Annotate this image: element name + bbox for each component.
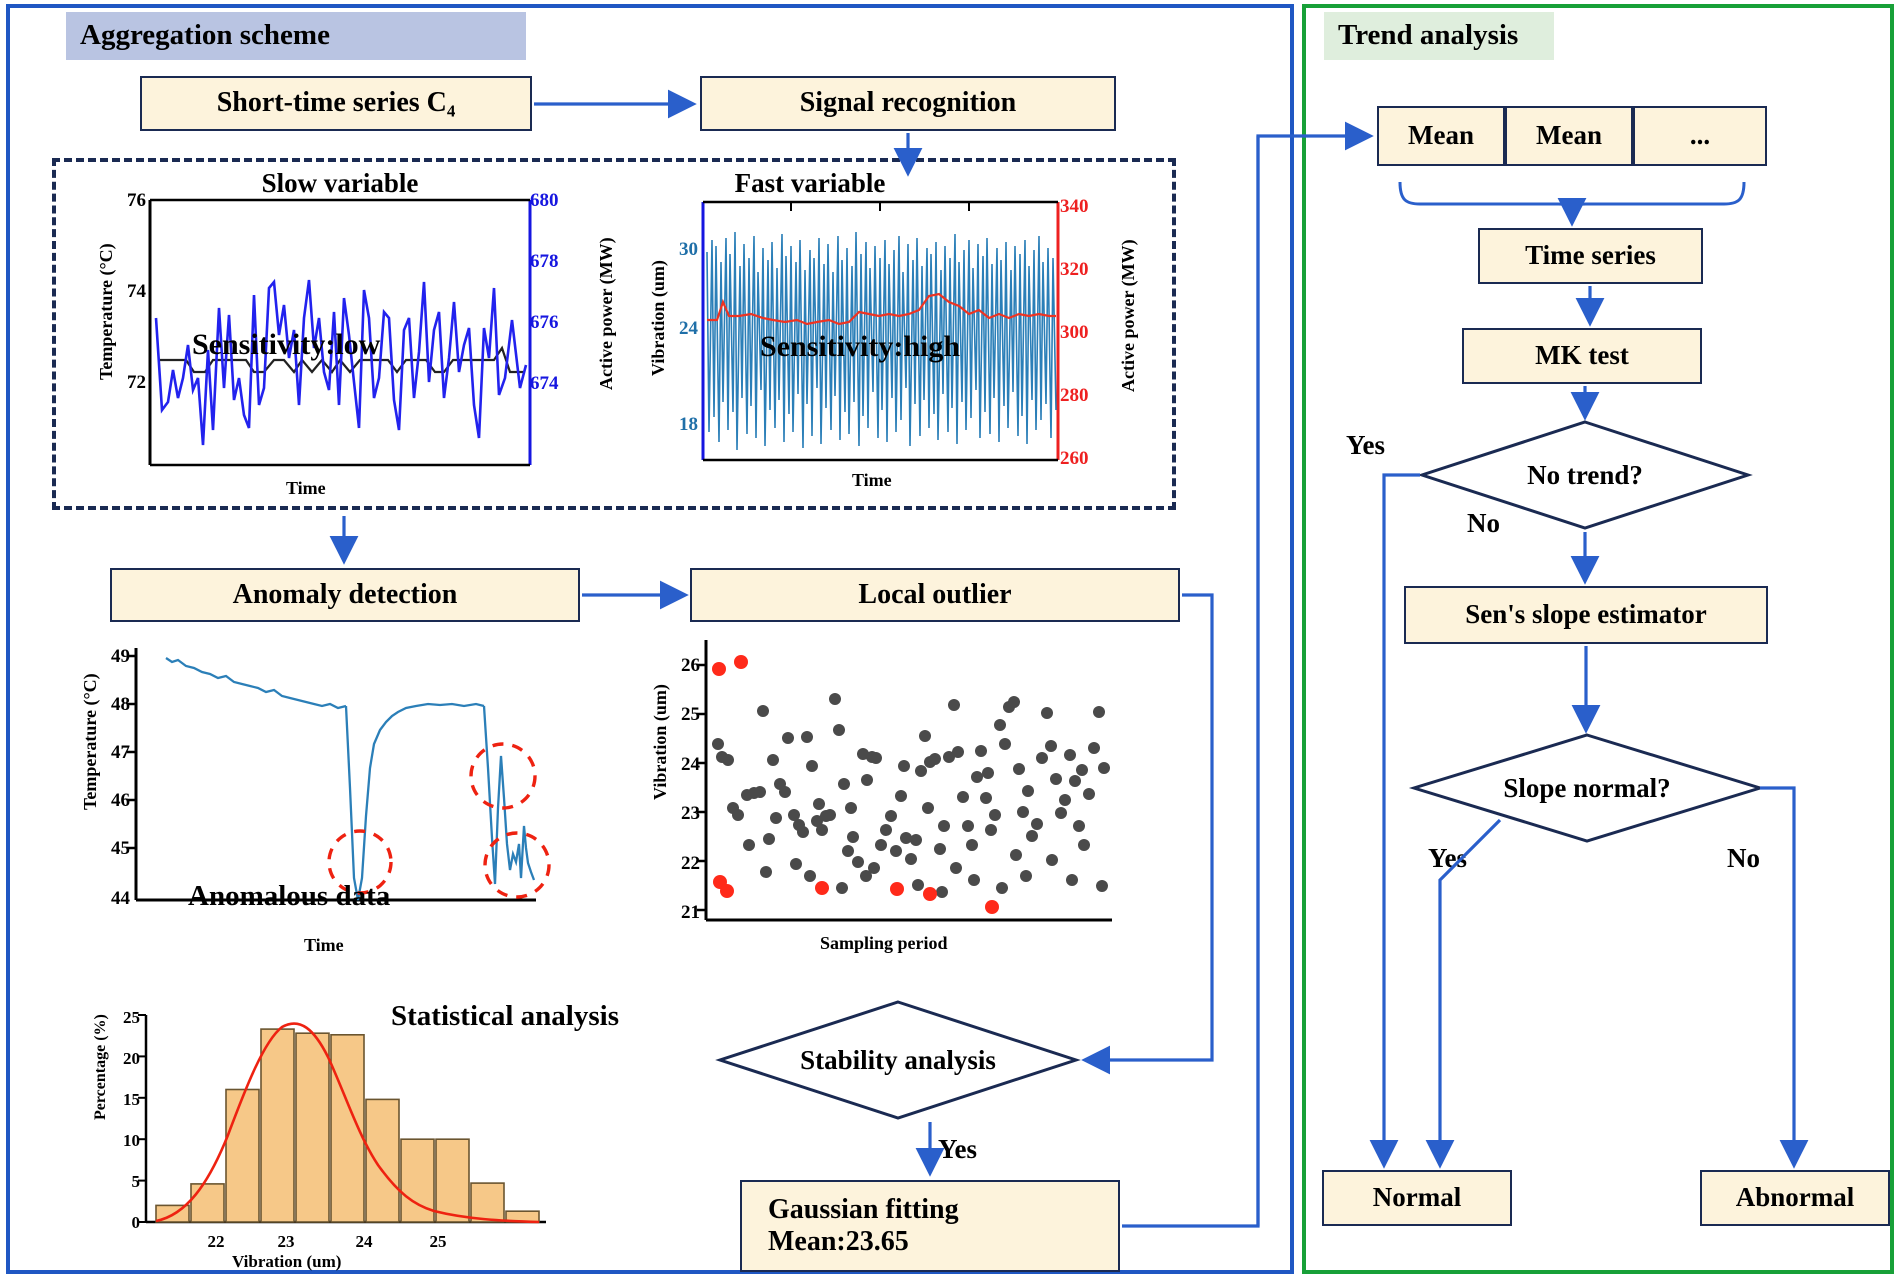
box-abnormal[interactable]: Abnormal xyxy=(1700,1170,1890,1226)
label-stability-yes: Yes xyxy=(938,1134,977,1165)
label-slope-no: No xyxy=(1727,843,1760,874)
mean-cell-2[interactable]: Mean xyxy=(1505,106,1633,166)
label-no-trend-no: No xyxy=(1467,508,1500,539)
gaussian-fitting-line2: Mean:23.65 xyxy=(768,1226,909,1258)
xtick-hist-22: 22 xyxy=(196,1232,236,1252)
xtick-hist-23: 23 xyxy=(266,1232,306,1252)
chart-title-slow-variable: Slow variable xyxy=(180,168,500,199)
ytick-hist-0: 0 xyxy=(100,1213,140,1233)
mean-cell-1[interactable]: Mean xyxy=(1377,106,1505,166)
ytick-hist-20: 20 xyxy=(100,1049,140,1069)
ytick-slow-76: 76 xyxy=(100,190,146,212)
ytick-fast-right-340: 340 xyxy=(1060,196,1116,218)
xtick-hist-24: 24 xyxy=(344,1232,384,1252)
diamond-stability-label: Stability analysis xyxy=(800,1045,996,1076)
axis-label-time-slow: Time xyxy=(286,478,326,499)
ytick-outlier-22: 22 xyxy=(654,853,700,875)
label-slope-yes: Yes xyxy=(1428,843,1467,874)
chart-local-outlier xyxy=(706,640,1112,930)
trend-analysis-title: Trend analysis xyxy=(1324,12,1554,60)
box-signal-recognition[interactable]: Signal recognition xyxy=(700,76,1116,131)
box-short-time-series[interactable]: Short-time series C₄ xyxy=(140,76,532,131)
axis-label-time-anomaly: Time xyxy=(304,935,344,956)
axis-label-vibration-outlier: Vibration (um) xyxy=(650,684,671,800)
ytick-anomaly-45: 45 xyxy=(84,838,130,860)
box-anomaly-detection[interactable]: Anomaly detection xyxy=(110,568,580,622)
chart-statistical-analysis xyxy=(146,1015,546,1230)
diamond-slope-normal[interactable]: Slope normal? xyxy=(1412,733,1762,843)
axis-label-vibration-hist: Vibration (um) xyxy=(232,1252,341,1272)
box-normal[interactable]: Normal xyxy=(1322,1170,1512,1226)
chart-title-fast-variable: Fast variable xyxy=(640,168,980,199)
ytick-fast-30: 30 xyxy=(652,239,698,261)
axis-label-time-fast: Time xyxy=(852,470,892,491)
ytick-anomaly-46: 46 xyxy=(84,790,130,812)
chart-anomaly-detection xyxy=(136,648,536,906)
mean-cell-ellipsis[interactable]: ... xyxy=(1633,106,1767,166)
label-no-trend-yes: Yes xyxy=(1346,430,1385,461)
box-gaussian-fitting[interactable]: Gaussian fitting Mean:23.65 xyxy=(740,1180,1120,1272)
axis-label-sampling-period: Sampling period xyxy=(820,933,948,954)
ytick-anomaly-49: 49 xyxy=(84,646,130,668)
diamond-no-trend-label: No trend? xyxy=(1527,460,1643,491)
gaussian-fitting-line1: Gaussian fitting xyxy=(768,1194,959,1226)
ytick-outlier-21: 21 xyxy=(654,902,700,924)
annotation-sensitivity-low: Sensitivity:low xyxy=(192,328,380,362)
ytick-hist-15: 15 xyxy=(100,1090,140,1110)
axis-label-active-power-slow: Active power (MW) xyxy=(596,237,617,390)
ytick-anomaly-48: 48 xyxy=(84,694,130,716)
annotation-anomalous-data: Anomalous data xyxy=(188,880,390,913)
annotation-sensitivity-high: Sensitivity:high xyxy=(760,330,960,364)
ytick-slow-right-674: 674 xyxy=(530,373,582,395)
ytick-hist-5: 5 xyxy=(100,1172,140,1192)
ytick-fast-right-280: 280 xyxy=(1060,385,1116,407)
ytick-hist-25: 25 xyxy=(100,1008,140,1028)
ytick-anomaly-44: 44 xyxy=(84,888,130,910)
ytick-anomaly-47: 47 xyxy=(84,742,130,764)
ytick-slow-right-678: 678 xyxy=(530,251,582,273)
ytick-hist-10: 10 xyxy=(100,1131,140,1151)
box-time-series[interactable]: Time series xyxy=(1478,228,1703,284)
axis-label-temperature-slow: Temperature (°C) xyxy=(96,243,117,380)
ytick-fast-right-300: 300 xyxy=(1060,322,1116,344)
axis-label-active-power-fast: Active power (MW) xyxy=(1118,239,1139,392)
ytick-outlier-23: 23 xyxy=(654,803,700,825)
ytick-slow-72: 72 xyxy=(100,372,146,394)
anomaly-temperature-line xyxy=(166,658,534,900)
ytick-fast-18: 18 xyxy=(652,414,698,436)
ytick-slow-right-676: 676 xyxy=(530,312,582,334)
ytick-outlier-26: 26 xyxy=(654,655,700,677)
box-local-outlier[interactable]: Local outlier xyxy=(690,568,1180,622)
ytick-slow-74: 74 xyxy=(100,281,146,303)
ytick-fast-24: 24 xyxy=(652,318,698,340)
histogram-bars xyxy=(156,1029,539,1222)
ytick-slow-right-680: 680 xyxy=(530,190,582,212)
ytick-outlier-24: 24 xyxy=(654,754,700,776)
diamond-slope-normal-label: Slope normal? xyxy=(1503,773,1670,804)
outlier-anomalous-points xyxy=(712,655,999,914)
box-sens-slope-estimator[interactable]: Sen's slope estimator xyxy=(1404,586,1768,644)
ytick-outlier-25: 25 xyxy=(654,704,700,726)
box-mk-test[interactable]: MK test xyxy=(1462,328,1702,384)
outlier-normal-points xyxy=(712,693,1110,898)
diamond-stability-analysis[interactable]: Stability analysis xyxy=(718,1000,1078,1120)
ytick-fast-right-260: 260 xyxy=(1060,448,1116,470)
ytick-fast-right-320: 320 xyxy=(1060,259,1116,281)
xtick-hist-25: 25 xyxy=(418,1232,458,1252)
aggregation-scheme-title: Aggregation scheme xyxy=(66,12,526,60)
